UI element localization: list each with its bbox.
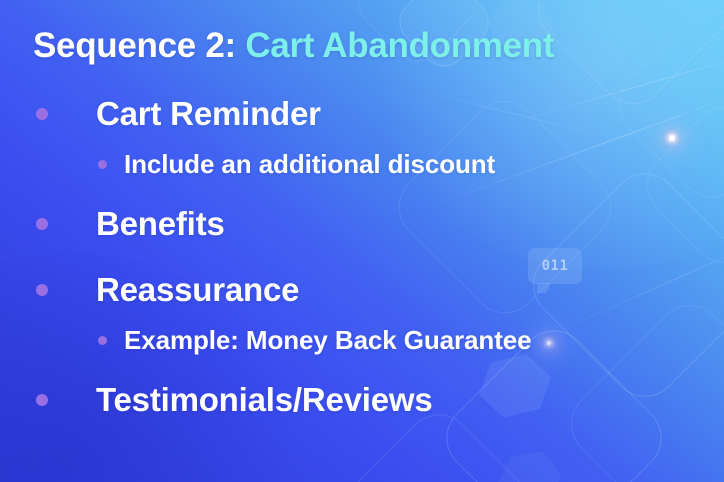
list-item-label: Cart Reminder: [96, 95, 321, 133]
bullet-marker-icon: [36, 218, 48, 230]
list-item-label: Reassurance: [96, 271, 299, 309]
bullet-list: Cart Reminder Include an additional disc…: [0, 86, 724, 428]
list-item-label: Benefits: [96, 205, 225, 243]
list-item: Include an additional discount: [0, 142, 724, 186]
bullet-marker-icon: [36, 108, 48, 120]
list-item: Testimonials/Reviews: [0, 372, 724, 428]
list-item: Benefits: [0, 196, 724, 252]
page-title-accent: Cart Abandonment: [245, 26, 554, 65]
slide-canvas: 011 Sequence 2: Cart Abandonment Cart Re…: [0, 0, 724, 482]
list-item-label: Testimonials/Reviews: [96, 381, 433, 419]
list-item-label: Include an additional discount: [124, 149, 495, 180]
list-item: Reassurance: [0, 262, 724, 318]
page-title-main: Sequence 2:: [33, 26, 236, 65]
bullet-marker-icon: [36, 284, 48, 296]
list-item: Cart Reminder: [0, 86, 724, 142]
page-title: Sequence 2: Cart Abandonment: [33, 26, 554, 65]
slide-content: Sequence 2: Cart Abandonment Cart Remind…: [0, 0, 724, 482]
list-item: Example: Money Back Guarantee: [0, 318, 724, 362]
list-item-label: Example: Money Back Guarantee: [124, 325, 531, 356]
bullet-marker-icon: [98, 160, 107, 169]
bullet-marker-icon: [36, 394, 48, 406]
bullet-marker-icon: [98, 336, 107, 345]
